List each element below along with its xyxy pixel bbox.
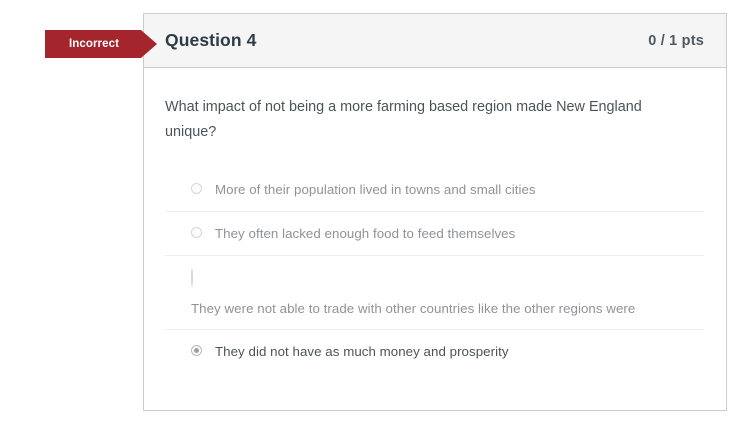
answer-option-label: They did not have as much money and pros… — [215, 342, 509, 361]
answer-option-label: They often lacked enough food to feed th… — [215, 224, 515, 243]
question-container: Question 4 0 / 1 pts What impact of not … — [143, 13, 727, 411]
radio-selected-icon[interactable] — [191, 345, 202, 356]
question-text: What impact of not being a more farming … — [165, 68, 693, 149]
status-flag-label: Incorrect — [45, 30, 143, 58]
question-body: What impact of not being a more farming … — [144, 68, 726, 373]
answer-option[interactable]: They did not have as much money and pros… — [165, 329, 704, 373]
answer-option[interactable]: They were not able to trade with other c… — [165, 255, 704, 329]
radio-unselected-icon[interactable] — [191, 227, 202, 238]
answer-option[interactable]: More of their population lived in towns … — [165, 170, 704, 211]
answer-option[interactable]: They often lacked enough food to feed th… — [165, 211, 704, 255]
answer-list: More of their population lived in towns … — [165, 170, 704, 373]
answer-option-label: More of their population lived in towns … — [215, 180, 536, 199]
question-title: Question 4 — [165, 30, 256, 51]
radio-unselected-icon[interactable] — [191, 268, 193, 287]
answer-option-label: They were not able to trade with other c… — [191, 299, 704, 318]
question-header: Question 4 0 / 1 pts — [144, 14, 726, 68]
status-flag-incorrect: Incorrect — [45, 30, 158, 58]
radio-unselected-icon[interactable] — [191, 183, 202, 194]
question-points: 0 / 1 pts — [648, 33, 704, 49]
